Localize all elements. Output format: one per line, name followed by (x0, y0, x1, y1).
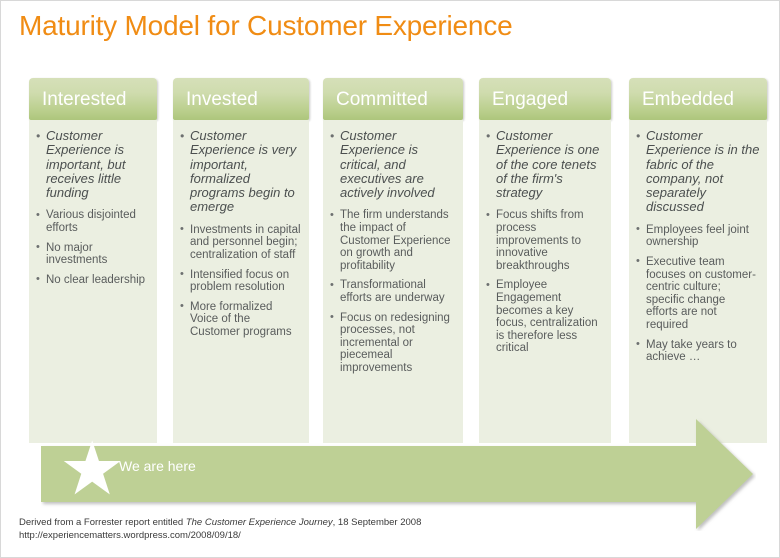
page-title: Maturity Model for Customer Experience (19, 10, 512, 42)
stage-body-committed: Customer Experience is critical, and exe… (323, 120, 463, 443)
footer-attribution: Derived from a Forrester report entitled… (19, 517, 421, 542)
lead-bullet: Customer Experience is very important, f… (179, 129, 302, 215)
stage-header-interested[interactable]: Interested (29, 78, 157, 120)
lead-bullet: Customer Experience is one of the core t… (485, 129, 604, 200)
lead-bullet: Customer Experience is in the fabric of … (635, 129, 760, 215)
bullet-list: Customer Experience is in the fabric of … (635, 129, 760, 364)
stage-header-embedded[interactable]: Embedded (629, 78, 767, 120)
lead-bullet: Customer Experience is critical, and exe… (329, 129, 456, 200)
list-item: No clear leadership (35, 274, 150, 287)
list-item: Employees feel joint ownership (635, 224, 760, 249)
progress-arrow: ★ We are here (41, 417, 756, 531)
slide-canvas: Maturity Model for Customer Experience I… (0, 0, 780, 558)
footer-report-title: The Customer Experience Journey (186, 517, 333, 528)
list-item: Investments in capital and personnel beg… (179, 224, 302, 262)
list-item: Various disjointed efforts (35, 209, 150, 234)
stage-column-engaged: Engaged Customer Experience is one of th… (479, 78, 611, 443)
footer-line-1: Derived from a Forrester report entitled… (19, 517, 421, 530)
footer-prefix: Derived from a Forrester report entitled (19, 517, 186, 528)
bullet-list: Customer Experience is important, but re… (35, 129, 150, 286)
arrow-icon (41, 417, 756, 531)
star-icon: ★ (59, 440, 119, 498)
stage-column-interested: Interested Customer Experience is import… (29, 78, 157, 443)
stage-header-engaged[interactable]: Engaged (479, 78, 611, 120)
footer-source-url[interactable]: http://experiencematters.wordpress.com/2… (19, 530, 421, 543)
stage-column-committed: Committed Customer Experience is critica… (323, 78, 463, 443)
stage-body-invested: Customer Experience is very important, f… (173, 120, 309, 443)
list-item: Focus on redesigning processes, not incr… (329, 312, 456, 375)
stage-header-label: Interested (42, 90, 127, 109)
list-item: Intensified focus on problem resolution (179, 269, 302, 294)
stage-header-label: Committed (336, 90, 428, 109)
list-item: May take years to achieve … (635, 339, 760, 364)
stage-header-committed[interactable]: Committed (323, 78, 463, 120)
list-item: No major investments (35, 242, 150, 267)
stage-body-interested: Customer Experience is important, but re… (29, 120, 157, 443)
bullet-list: Customer Experience is one of the core t… (485, 129, 604, 355)
list-item: Focus shifts from process improvements t… (485, 209, 604, 272)
stage-header-invested[interactable]: Invested (173, 78, 309, 120)
stage-header-label: Embedded (642, 90, 734, 109)
stage-column-embedded: Embedded Customer Experience is in the f… (629, 78, 767, 443)
list-item: Executive team focuses on customer-centr… (635, 256, 760, 332)
stage-header-label: Invested (186, 90, 258, 109)
list-item: Transformational efforts are underway (329, 279, 456, 304)
stage-body-embedded: Customer Experience is in the fabric of … (629, 120, 767, 443)
bullet-list: Customer Experience is critical, and exe… (329, 129, 456, 375)
stage-column-invested: Invested Customer Experience is very imp… (173, 78, 309, 443)
footer-suffix: , 18 September 2008 (333, 517, 422, 528)
bullet-list: Customer Experience is very important, f… (179, 129, 302, 339)
list-item: More formalized Voice of the Customer pr… (179, 301, 302, 339)
stage-body-engaged: Customer Experience is one of the core t… (479, 120, 611, 443)
stage-header-label: Engaged (492, 90, 568, 109)
list-item: The firm understands the impact of Custo… (329, 209, 456, 272)
arrow-label: We are here (119, 458, 196, 474)
list-item: Employee Engagement becomes a key focus,… (485, 279, 604, 355)
lead-bullet: Customer Experience is important, but re… (35, 129, 150, 200)
